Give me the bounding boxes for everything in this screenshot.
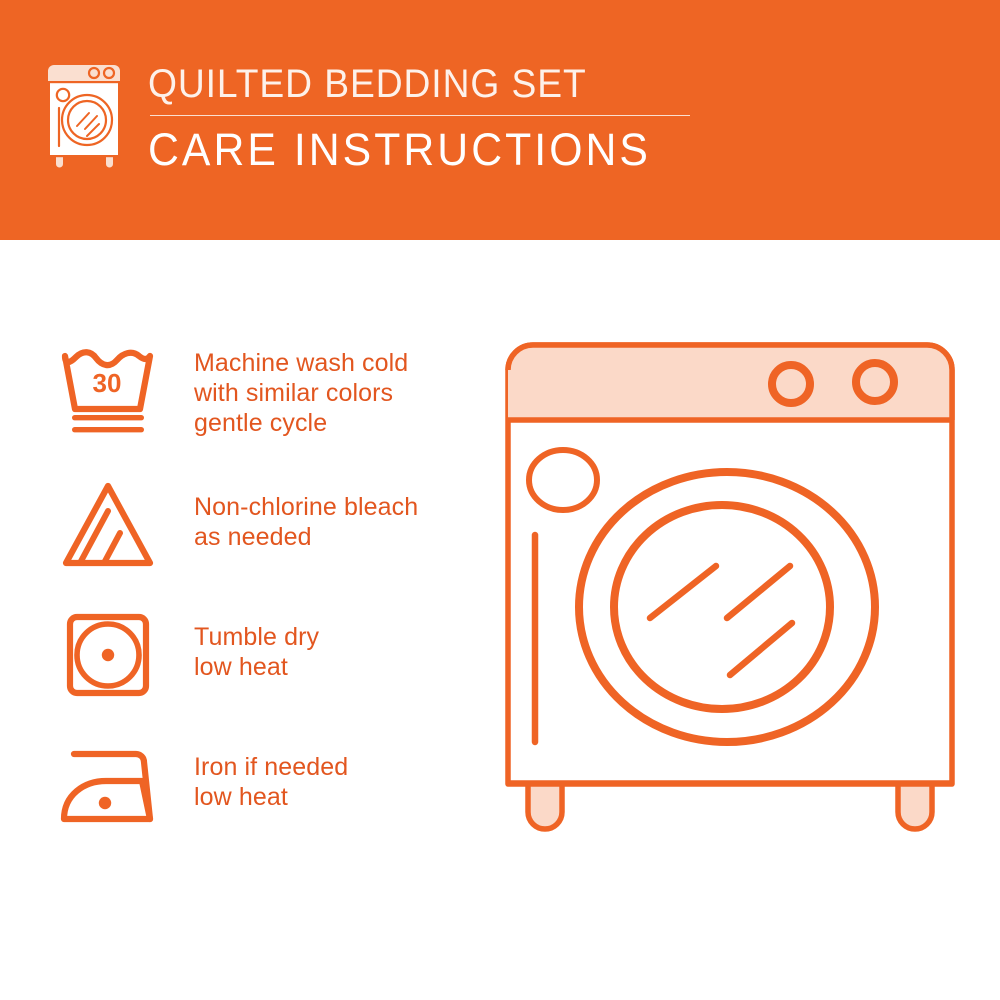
- care-line: gentle cycle: [194, 408, 408, 438]
- leg-left: [528, 782, 562, 829]
- care-line: with similar colors: [194, 378, 408, 408]
- bleach-triangle-symbol: [58, 477, 158, 573]
- care-instruction-list: 30 Machine wash cold with similar colors…: [48, 340, 478, 860]
- knob-right[interactable]: [856, 363, 894, 401]
- care-line: as needed: [194, 522, 418, 552]
- tumble-dry-symbol: [58, 607, 158, 703]
- care-line: Machine wash cold: [194, 348, 408, 378]
- care-item-dry: Tumble dry low heat: [48, 600, 478, 730]
- care-line: low heat: [194, 782, 348, 812]
- care-item-wash-label: Machine wash cold with similar colors ge…: [194, 340, 408, 438]
- bleach-triangle-symbol-wrapper: [48, 470, 168, 580]
- care-line: Non-chlorine bleach: [194, 492, 418, 522]
- care-line: Tumble dry: [194, 622, 319, 652]
- tumble-dry-symbol-wrapper: [48, 600, 168, 710]
- leg-right: [898, 782, 932, 829]
- care-item-iron: Iron if needed low heat: [48, 730, 478, 860]
- iron-heat-dot: [99, 797, 111, 809]
- wash-temperature-label: 30: [93, 368, 122, 398]
- page-subtitle: CARE INSTRUCTIONS: [148, 126, 663, 173]
- iron-symbol: [58, 737, 158, 833]
- care-line: Iron if needed: [194, 752, 348, 782]
- care-item-bleach: Non-chlorine bleach as needed: [48, 470, 478, 600]
- care-line: low heat: [194, 652, 319, 682]
- care-item-wash: 30 Machine wash cold with similar colors…: [48, 340, 478, 470]
- knob-left[interactable]: [772, 365, 810, 403]
- care-item-dry-label: Tumble dry low heat: [194, 600, 319, 682]
- iron-symbol-wrapper: [48, 730, 168, 840]
- title-divider: [150, 115, 690, 116]
- dry-heat-dot: [102, 649, 114, 661]
- care-item-bleach-label: Non-chlorine bleach as needed: [194, 470, 418, 552]
- header-content: QUILTED BEDDING SET CARE INSTRUCTIONS: [44, 62, 690, 173]
- care-item-iron-label: Iron if needed low heat: [194, 730, 348, 812]
- washing-machine-illustration: [490, 330, 970, 950]
- washing-machine-icon: [44, 62, 130, 170]
- header-title-group: QUILTED BEDDING SET CARE INSTRUCTIONS: [148, 62, 690, 173]
- header-banner: QUILTED BEDDING SET CARE INSTRUCTIONS: [0, 0, 1000, 240]
- page-title: QUILTED BEDDING SET: [148, 62, 652, 106]
- wash-tub-symbol: 30: [58, 347, 158, 443]
- wash-tub-symbol-wrapper: 30: [48, 340, 168, 450]
